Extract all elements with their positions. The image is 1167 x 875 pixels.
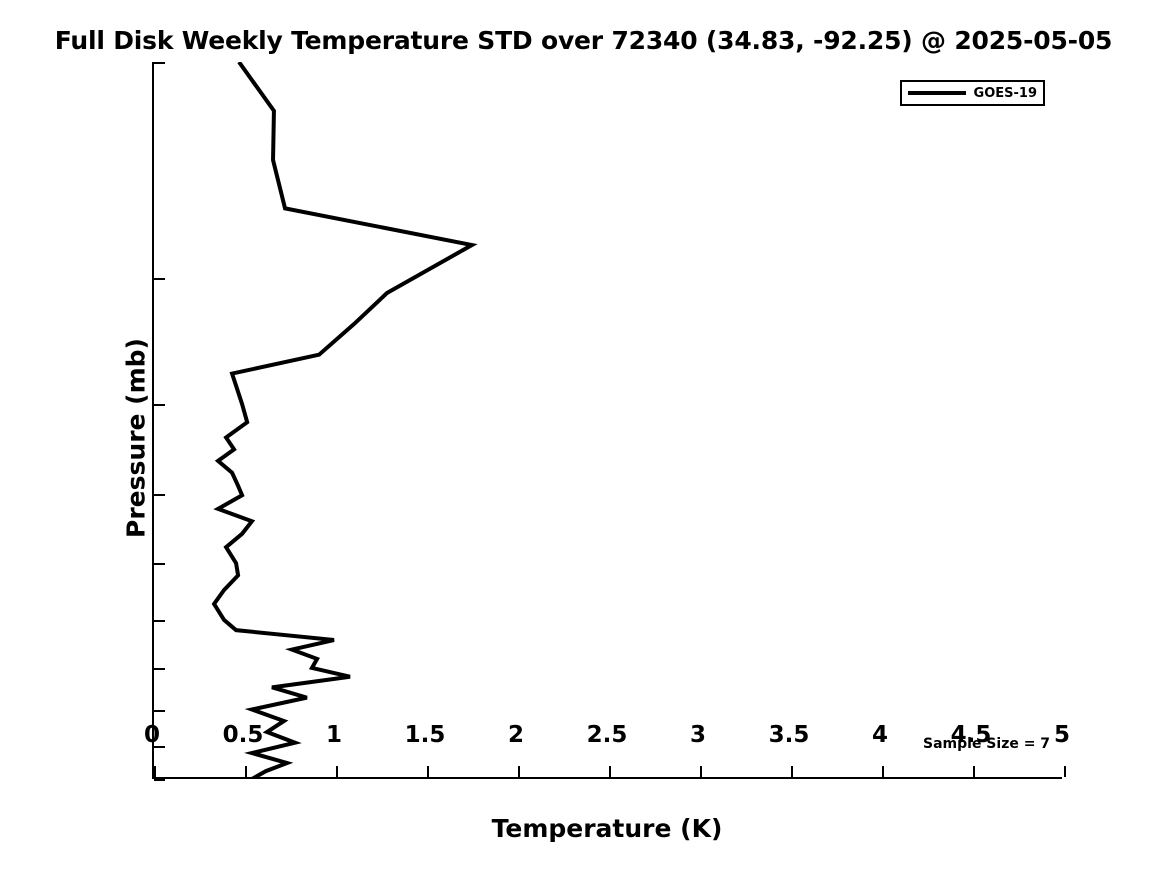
legend-label-goes-19: GOES-19: [974, 86, 1037, 101]
sample-size-annotation: Sample Size = 7: [923, 736, 1050, 752]
legend: GOES-19: [900, 80, 1045, 106]
x-tick-label-2: 2: [508, 722, 524, 748]
chart-title: Full Disk Weekly Temperature STD over 72…: [0, 26, 1167, 55]
legend-line-swatch: [908, 91, 966, 95]
x-tick-label-4: 4: [872, 722, 888, 748]
x-tick-label-5: 5: [1054, 722, 1070, 748]
x-tick-label-3: 3: [690, 722, 706, 748]
x-tick-label-2.5: 2.5: [587, 722, 628, 748]
x-tick-label-3.5: 3.5: [769, 722, 810, 748]
x-tick-label-1: 1: [326, 722, 342, 748]
plot-area: [152, 62, 1062, 779]
x-tick-5: [1064, 766, 1066, 777]
y-tick-1000: [154, 779, 165, 781]
x-axis-label: Temperature (K): [152, 814, 1062, 843]
x-tick-label-0.5: 0.5: [223, 722, 264, 748]
data-line-chart: [154, 62, 1064, 779]
chart-figure: Full Disk Weekly Temperature STD over 72…: [0, 0, 1167, 875]
x-tick-label-1.5: 1.5: [405, 722, 446, 748]
y-axis-label: Pressure (mb): [121, 338, 150, 538]
x-tick-label-0: 0: [144, 722, 160, 748]
series-line-goes-19: [214, 62, 472, 779]
